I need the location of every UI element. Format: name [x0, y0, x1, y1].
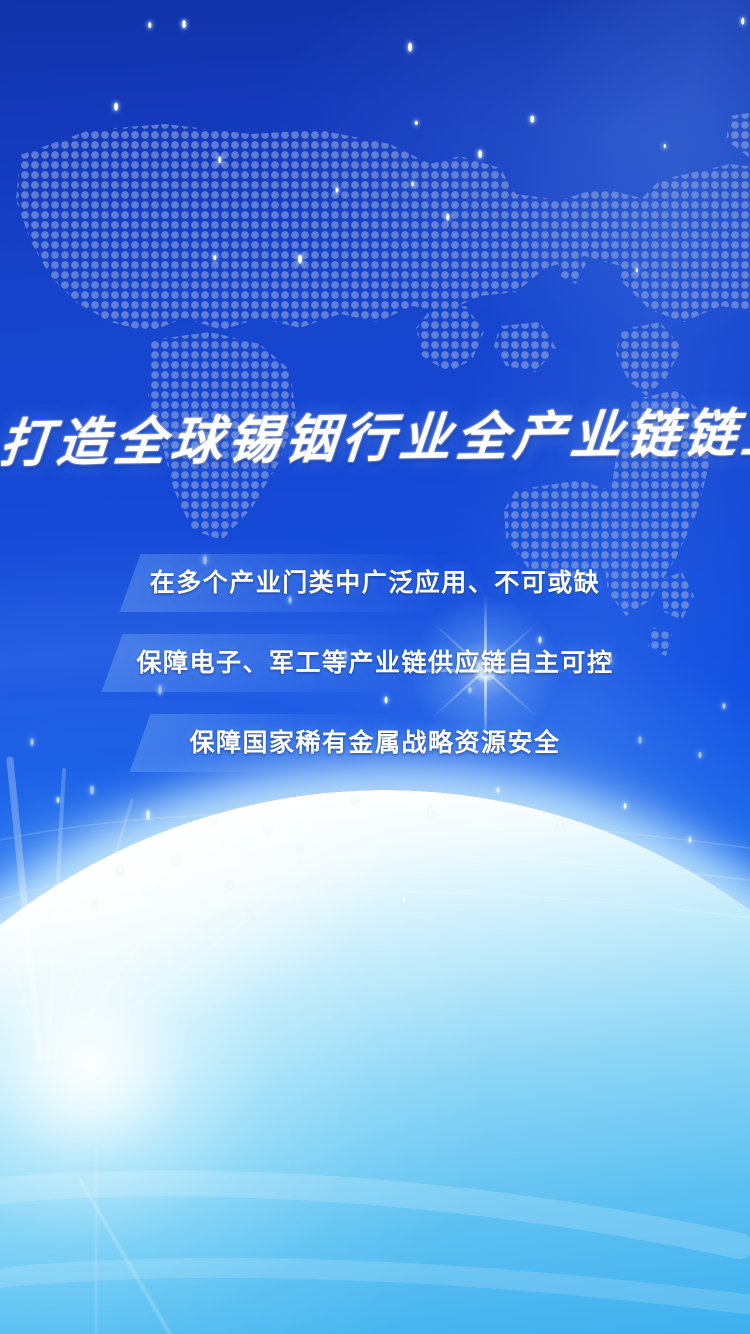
subtitle-row-1: 在多个产业门类中广泛应用、不可或缺 — [0, 554, 750, 612]
subtitle-text-3: 保障国家稀有金属战略资源安全 — [0, 714, 750, 772]
subtitle-text-1: 在多个产业门类中广泛应用、不可或缺 — [0, 554, 750, 612]
subtitle-row-2: 保障电子、军工等产业链供应链自主可控 — [0, 634, 750, 692]
poster-root: 打造全球锡铟行业全产业链链主 在多个产业门类中广泛应用、不可或缺 保障电子、军工… — [0, 0, 750, 1334]
title-block: 打造全球锡铟行业全产业链链主 — [0, 412, 750, 468]
subtitle-row-3: 保障国家稀有金属战略资源安全 — [0, 714, 750, 772]
poster-content: 打造全球锡铟行业全产业链链主 在多个产业门类中广泛应用、不可或缺 保障电子、军工… — [0, 0, 750, 1334]
page-title: 打造全球锡铟行业全产业链链主 — [0, 406, 750, 473]
subtitle-text-2: 保障电子、军工等产业链供应链自主可控 — [0, 634, 750, 692]
